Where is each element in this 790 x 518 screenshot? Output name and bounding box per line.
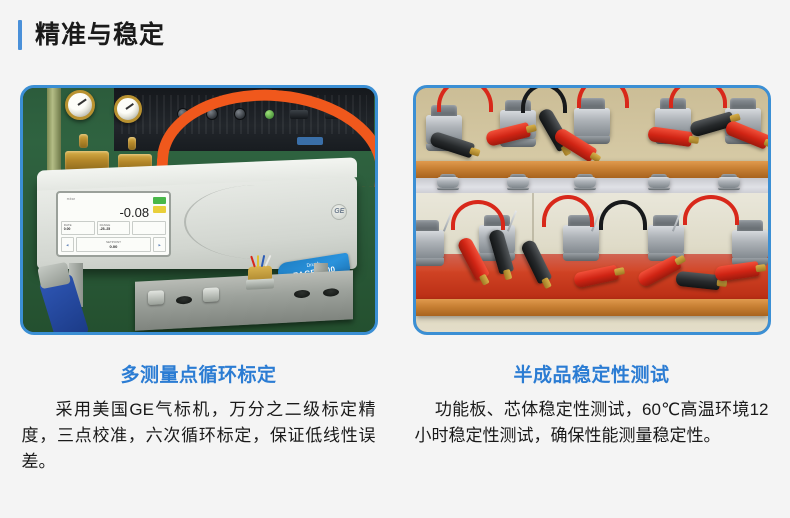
pace5000-instrument: mbar -0.08 RATE	[37, 176, 357, 269]
sensor-unit	[574, 108, 610, 138]
card-calibration: mbar -0.08 RATE	[20, 85, 378, 475]
display-next-button[interactable]: ▶	[153, 237, 166, 252]
display-value: -0.08	[119, 206, 149, 219]
display-setpoint-value: 0.00	[110, 244, 118, 249]
fixture-fitting	[203, 287, 219, 302]
wooden-shelf	[416, 299, 768, 316]
display-prev-button[interactable]: ◀	[61, 237, 74, 252]
heading-accent-bar	[18, 20, 22, 50]
display-aux-cell[interactable]	[132, 221, 166, 235]
display-unit: mbar	[67, 197, 75, 201]
section-heading: 精准与稳定	[18, 18, 165, 52]
display-setpoint-cell[interactable]: SETPOINT 0.00	[76, 237, 151, 252]
display-range-cell[interactable]: RANGE -25..25	[97, 221, 131, 235]
caption-title-right: 半成品稳定性测试	[413, 360, 771, 387]
sensor-base-underside	[718, 177, 740, 188]
sensor-base-underside	[507, 177, 529, 188]
fixture-port-hole	[294, 290, 310, 299]
sensor-base-underside	[574, 177, 596, 188]
sensor-under-test	[249, 266, 273, 289]
fixture-fitting	[148, 290, 164, 305]
caption-body-right: 功能板、芯体稳定性测试，60℃高温环境12小时稳定性测试，确保性能测量稳定性。	[413, 397, 771, 449]
sensor-unit	[732, 230, 767, 260]
display-cell2-value: -25..25	[100, 227, 128, 231]
fixture-port-hole	[177, 296, 193, 305]
photo-frame-right	[413, 85, 771, 335]
sensor-unit	[416, 230, 445, 260]
brass-stem	[79, 134, 88, 148]
pressure-gauge	[65, 90, 95, 120]
card-stability: 半成品稳定性测试 功能板、芯体稳定性测试，60℃高温环境12小时稳定性测试，确保…	[413, 85, 771, 475]
caption-title-left: 多测量点循环标定	[20, 360, 378, 387]
instrument-display[interactable]: mbar -0.08 RATE	[56, 191, 171, 258]
cards-row: mbar -0.08 RATE	[0, 85, 790, 475]
caption-body-left: 采用美国GE气标机，万分之二级标定精度，三点校准，六次循环标定，保证低线性误差。	[20, 397, 378, 475]
ge-logo-icon: GE	[331, 204, 347, 220]
stability-test-rack-photo	[416, 88, 768, 332]
page-title: 精准与稳定	[35, 20, 165, 50]
calibration-bench-photo: mbar -0.08 RATE	[23, 88, 375, 332]
display-status-chip-yellow[interactable]	[153, 206, 166, 213]
test-cable	[669, 88, 727, 108]
display-cell1-value: 0.00	[64, 227, 92, 231]
display-status-chip-green[interactable]	[153, 197, 166, 204]
sensor-unit	[648, 225, 684, 255]
test-cable	[577, 88, 629, 108]
page-root: 精准与稳定	[0, 0, 790, 518]
fixture-port-hole	[323, 288, 339, 297]
display-rate-cell[interactable]: RATE 0.00	[61, 221, 95, 235]
photo-frame-left: mbar -0.08 RATE	[20, 85, 378, 335]
sensor-base-underside	[648, 177, 670, 188]
test-cable	[437, 88, 493, 112]
sensor-unit	[563, 225, 599, 255]
brass-stem	[128, 137, 136, 150]
sensor-base-underside	[437, 177, 459, 188]
